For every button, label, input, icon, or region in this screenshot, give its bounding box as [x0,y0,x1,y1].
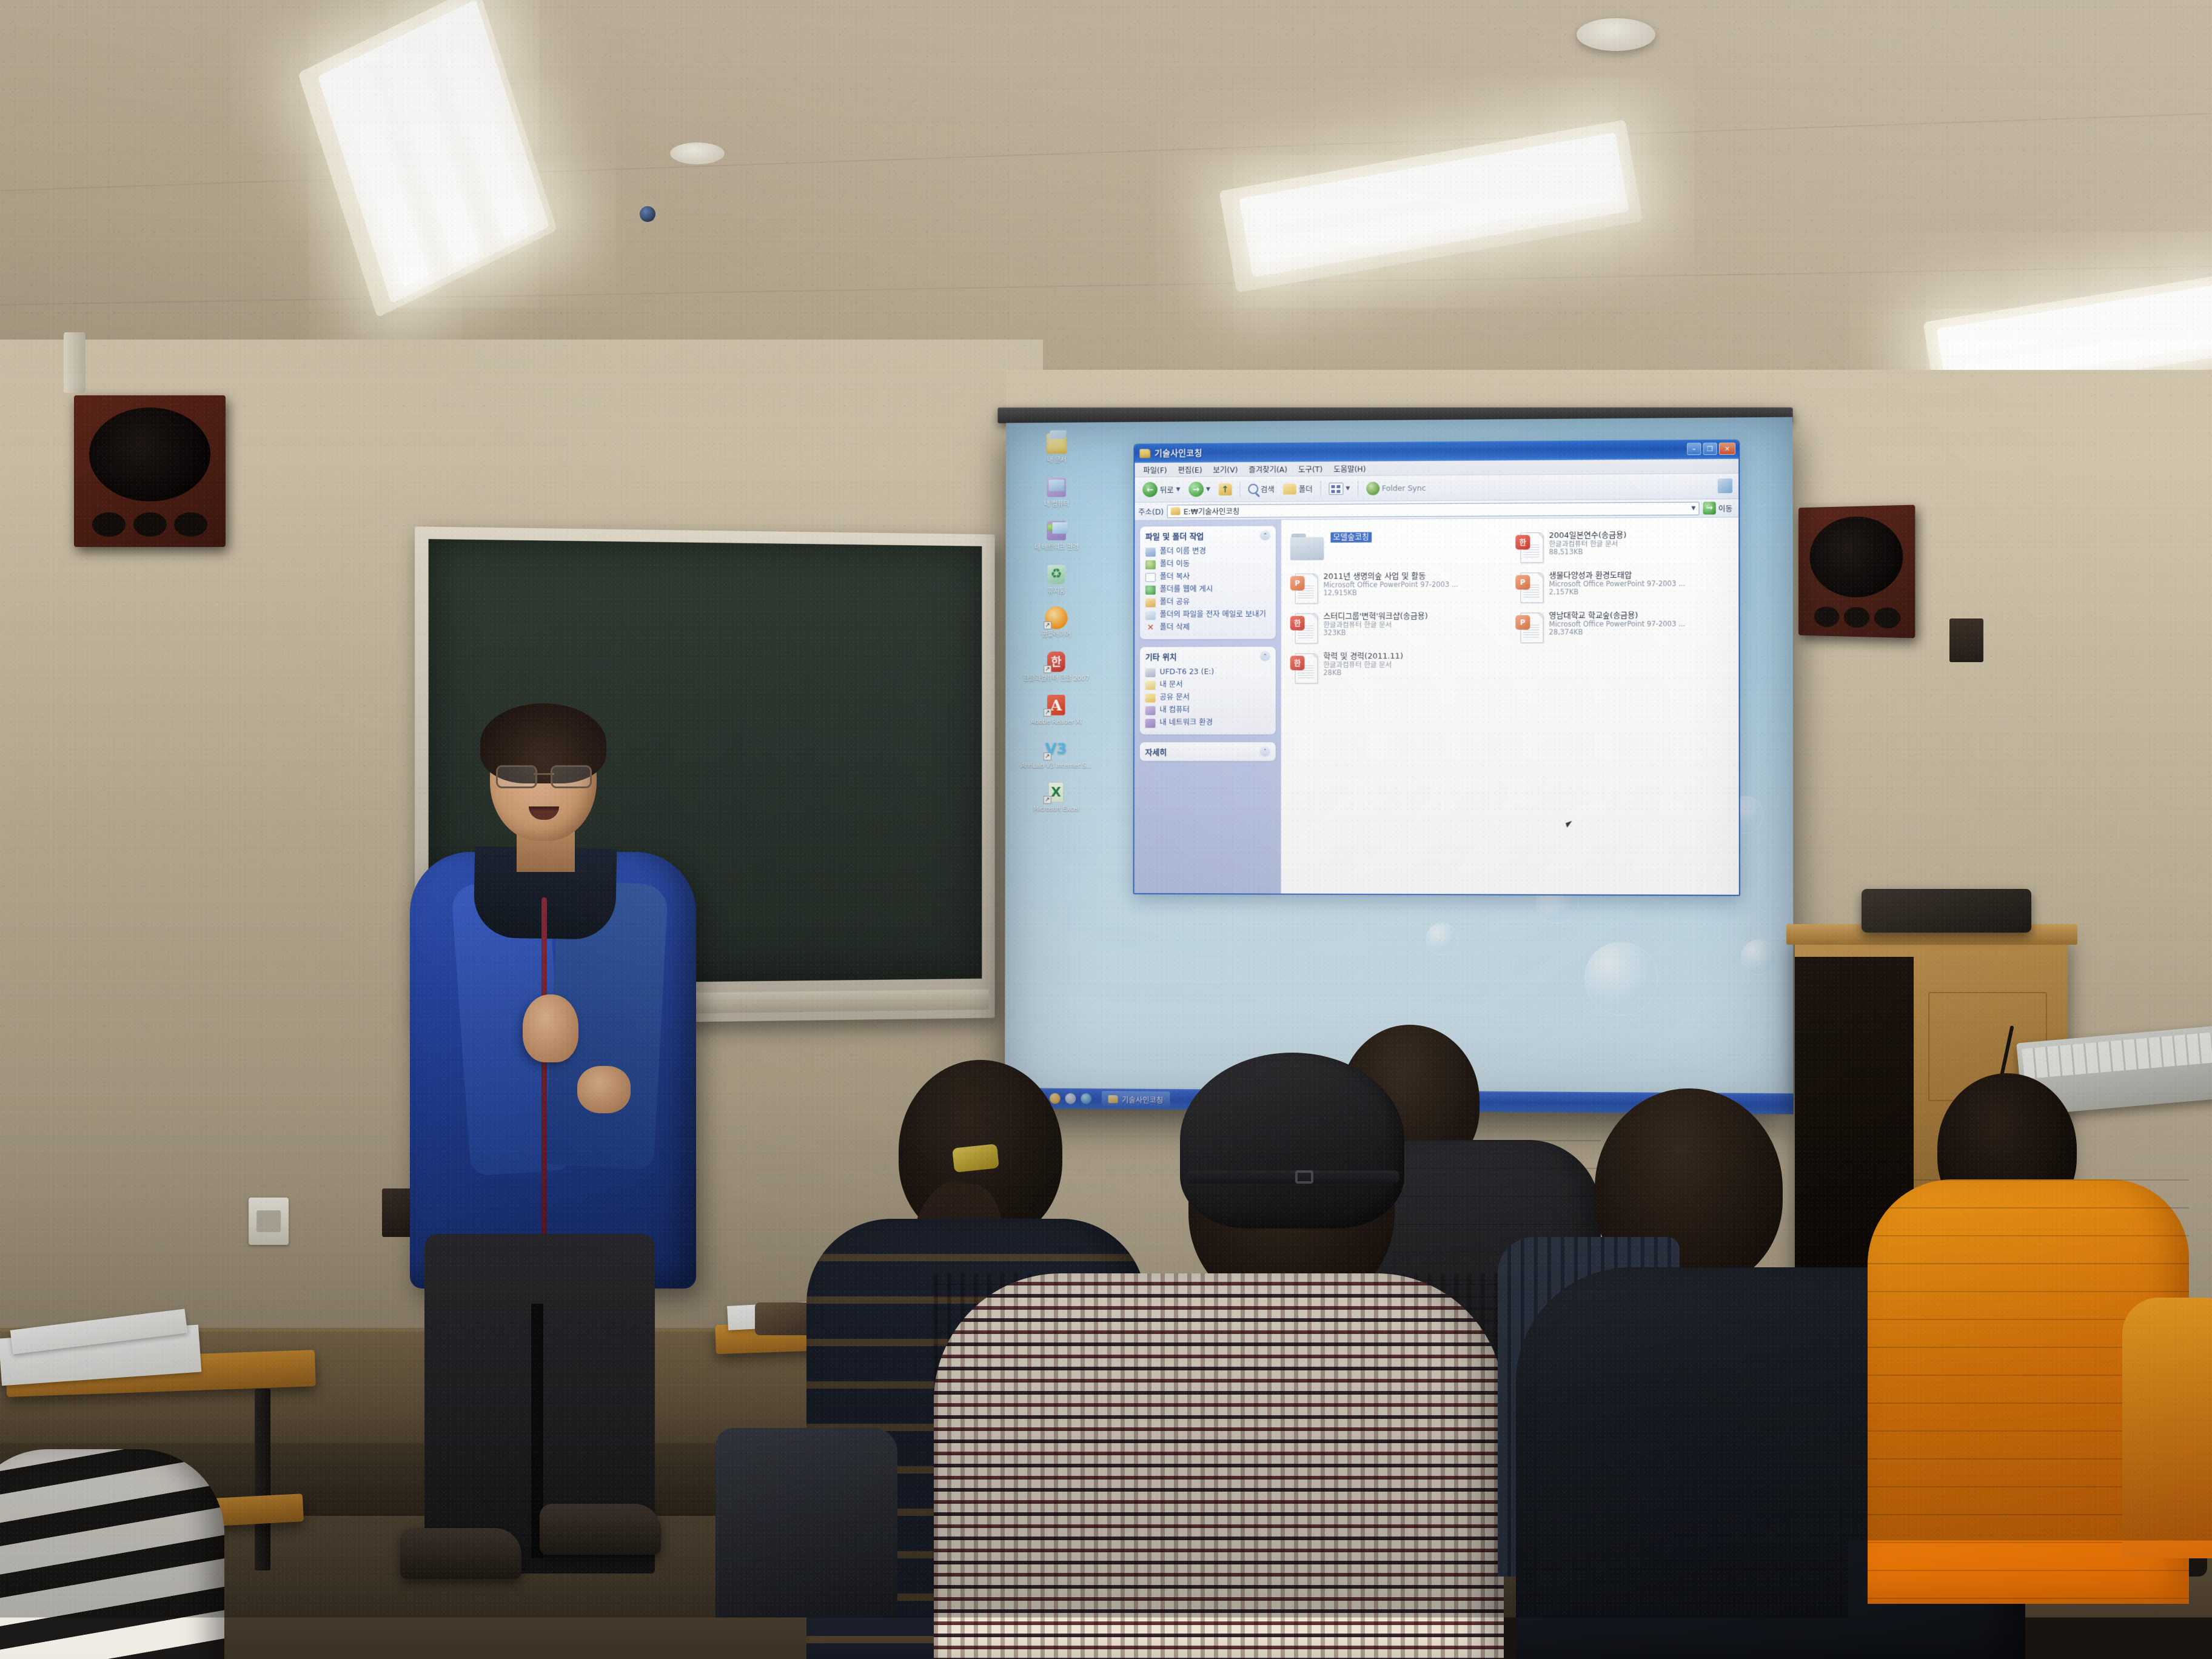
back-button[interactable]: ← 뒤로 ▼ [1139,481,1183,498]
place-label: 내 컴퓨터 [1159,705,1189,714]
task-move-folder[interactable]: 폴더 이동 [1145,557,1270,571]
desktop-icon-label: 내 컴퓨터 [1019,500,1094,508]
chevron-down-icon[interactable]: ▼ [1691,505,1695,511]
taskbar-task-label: 기술사인코칭 [1122,1093,1163,1105]
desktop-icon-my-documents[interactable]: 내 문서 [1019,432,1094,464]
file-item-hwp[interactable]: 한 학력 및 경력(2011.11) 한글과컴퓨터 한글 문서 28KB [1289,650,1504,687]
removable-drive-icon [1145,668,1156,677]
folder-sync-button[interactable]: Folder Sync [1363,480,1429,497]
toolbar-separator [1358,480,1358,496]
desktop-icon-label: 휴지통 [1019,588,1094,595]
presenter-hand-right [523,994,578,1062]
folder-icon [1290,532,1326,561]
my-network-places-icon [1145,719,1156,728]
wall-speaker-left [74,395,226,547]
file-name: 모델숲코칭 [1330,532,1372,543]
search-button[interactable]: 검색 [1245,482,1278,496]
place-label: UFD-T6 23 (E:) [1160,667,1215,675]
panel-details: 자세히 ˅ [1140,742,1276,761]
fair-isle-sweater [934,1273,1504,1659]
shared-documents-icon [1145,693,1156,702]
wall-outlet-left[interactable] [249,1198,289,1245]
desktop-icon-label: 내 네트워크 환경 [1019,544,1094,551]
chevron-up-icon[interactable]: ⌃ [1260,530,1270,540]
beanie-band [1186,1170,1399,1184]
file-size: 28KB [1323,669,1403,677]
wallpaper-bubble [1426,923,1458,954]
task-copy-folder[interactable]: 폴더 복사 [1145,570,1270,583]
panel-header[interactable]: 기타 위치 ⌃ [1140,647,1276,665]
desktop-icon-adobe-reader[interactable]: Adobe Reader XI [1019,694,1094,725]
menu-item-help[interactable]: 도움말(H) [1329,461,1370,475]
window-body: 파일 및 폴더 작업 ⌃ 폴더 이름 변경 폴더 이동 [1134,517,1739,894]
place-label: 내 네트워크 환경 [1159,718,1213,726]
go-arrow-icon: → [1703,501,1716,514]
panel-body: 폴더 이름 변경 폴더 이동 폴더 복사 [1140,543,1276,639]
rename-folder-icon [1145,548,1156,557]
address-value: E:₩기술사인코칭 [1184,505,1240,517]
back-label: 뒤로 [1160,484,1174,495]
place-removable-drive[interactable]: UFD-T6 23 (E:) [1145,666,1270,679]
panel-other-places: 기타 위치 ⌃ UFD-T6 23 (E:) 내 문서 [1140,647,1276,735]
menu-item-favorites[interactable]: 즐겨찾기(A) [1244,462,1292,476]
projector-equipment [1862,889,2031,933]
wallpaper-bubble [1584,942,1658,1015]
file-item-hwp[interactable]: 한 스터디그룹'변혁'워크샵(송금용) 한글과컴퓨터 한글 문서 323KB [1289,610,1504,647]
task-label: 폴더 복사 [1160,572,1190,580]
powerpoint-document-icon: P [1290,572,1318,605]
smoke-detector [1577,18,1655,51]
windows-explorer-window[interactable]: 기술사인코칭 – ❐ ✕ 파일(F) 편집(E) 보기(V) 즐겨찾기(A) 도… [1133,440,1740,896]
wall-speaker-right [1798,504,1915,638]
folders-label: 폴더 [1299,483,1313,494]
projected-desktop: 내 문서 내 컴퓨터 내 네트워크 환경 휴지통 곰플레이어 [1005,417,1794,1114]
task-publish-web[interactable]: 폴더를 웹에 게시 [1145,583,1270,596]
menu-item-edit[interactable]: 편집(E) [1173,463,1207,477]
forward-arrow-icon: → [1188,481,1204,497]
classroom-scene: 내 문서 내 컴퓨터 내 네트워크 환경 휴지통 곰플레이어 [0,0,2212,1659]
panel-header[interactable]: 파일 및 폴더 작업 ⌃ [1140,526,1276,544]
ceiling-sensor [670,142,725,164]
eyeglasses-icon [496,765,592,786]
views-icon [1329,483,1343,495]
panel-body: UFD-T6 23 (E:) 내 문서 공유 문서 [1140,664,1276,734]
file-item-ppt[interactable]: P 2011년 생명의숲 사업 및 활동 Microsoft Office Po… [1289,569,1504,606]
place-my-computer[interactable]: 내 컴퓨터 [1145,703,1270,716]
search-icon [1248,484,1258,494]
file-item-ppt[interactable]: P 영남대학교 학교숲(송금용) Microsoft Office PowerP… [1513,609,1731,646]
panel-title: 기타 위치 [1145,651,1177,662]
file-size: 2,157KB [1549,588,1686,596]
file-size: 88,513KB [1549,548,1627,557]
file-name: 학력 및 경력(2011.11) [1323,652,1403,661]
go-button[interactable]: → 이동 [1703,501,1735,514]
task-label: 폴더 이동 [1160,559,1190,568]
place-shared-documents[interactable]: 공유 문서 [1145,691,1270,703]
desktop-icon-my-network-places[interactable]: 내 네트워크 환경 [1019,519,1094,551]
mouse-cursor [1566,820,1578,828]
task-share-folder[interactable]: 폴더 공유 [1145,595,1270,609]
publish-web-icon [1145,585,1156,594]
toolbar: ← 뒤로 ▼ → ▼ 검색 [1134,474,1738,503]
striped-sweater [0,1449,224,1659]
quick-launch-bar [1044,1093,1098,1104]
hair-clip [952,1144,999,1173]
back-arrow-icon: ← [1142,482,1158,497]
desktop-icon-label: 곰플레이어 [1019,631,1094,638]
file-grid: 모델숲코칭 한 2004일본연수(송금용) 한글과컴퓨터 [1289,529,1732,687]
file-list-pane[interactable]: 모델숲코칭 한 2004일본연수(송금용) 한글과컴퓨터 [1281,517,1738,894]
share-folder-icon [1145,598,1156,607]
close-button[interactable]: ✕ [1719,443,1735,455]
folder-icon [1171,507,1181,515]
minimize-button[interactable]: – [1687,443,1701,455]
address-input[interactable]: E:₩기술사인코칭 ▼ [1167,501,1699,518]
hwp-document-icon: 한 [1515,531,1543,564]
chevron-down-icon[interactable]: ˅ [1260,746,1270,757]
task-pane-sidebar: 파일 및 폴더 작업 ⌃ 폴더 이름 변경 폴더 이동 [1134,520,1281,893]
address-label: 주소(D) [1138,506,1164,517]
move-folder-icon [1145,560,1156,569]
presenter-shoe-left [400,1528,521,1579]
internet-explorer-icon[interactable] [1081,1093,1091,1104]
place-label: 공유 문서 [1159,692,1189,701]
task-label: 폴더 삭제 [1160,623,1190,631]
desktop-icon-recycle-bin[interactable]: 휴지통 [1019,563,1094,595]
desktop-icon-label: 한글과컴퓨터 한글 2007 [1019,675,1094,682]
task-label: 폴더의 파일을 전자 메일로 보내기 [1160,609,1266,618]
chevron-down-icon: ▼ [1206,486,1210,492]
toolbar-branding-icon [1718,478,1732,493]
file-item-ppt[interactable]: P 생물다양성과 환경도태압 Microsoft Office PowerPoi… [1513,569,1731,606]
file-name: 스터디그룹'변혁'워크샵(송금용) [1323,612,1427,622]
ceiling-screw [640,206,655,222]
maximize-button[interactable]: ❐ [1703,443,1717,455]
chevron-down-icon: ▼ [1346,485,1350,491]
presenter-jacket-zipper [541,897,547,1237]
place-my-documents[interactable]: 내 문서 [1145,678,1270,691]
task-label: 폴더 공유 [1160,597,1190,606]
up-folder-icon [1219,483,1232,495]
backpack [716,1428,897,1634]
task-label: 폴더 이름 변경 [1160,546,1206,555]
window-titlebar[interactable]: 기술사인코칭 – ❐ ✕ [1134,440,1738,463]
folder-sync-icon [1366,481,1379,495]
desktop-icon-microsoft-excel[interactable]: Microsoft Excel [1019,781,1094,813]
place-my-network-places[interactable]: 내 네트워크 환경 [1145,716,1270,729]
panel-header[interactable]: 자세히 ˅ [1140,742,1276,761]
task-email-files[interactable]: 폴더의 파일을 전자 메일로 보내기 [1145,608,1270,622]
gom-player-icon[interactable] [1050,1093,1061,1104]
folders-button[interactable]: 폴더 [1280,481,1316,495]
file-size: 12,915KB [1323,589,1458,597]
powerpoint-document-icon: P [1515,571,1543,604]
chevron-down-icon: ▼ [1176,486,1181,492]
media-player-icon[interactable] [1065,1093,1076,1104]
my-computer-icon [1145,706,1156,715]
black-beanie [1180,1053,1404,1228]
presenter-hand-left [577,1066,631,1113]
up-button[interactable] [1216,482,1235,497]
desktop-icon-hancom-hwp[interactable]: 한글과컴퓨터 한글 2007 [1019,650,1094,682]
desktop-icon-label: 내 문서 [1019,457,1094,464]
views-button[interactable]: ▼ [1326,481,1353,495]
desktop-icon-list: 내 문서 내 컴퓨터 내 네트워크 환경 휴지통 곰플레이어 [1019,432,1094,825]
hwp-document-icon: 한 [1290,652,1318,685]
panel-title: 파일 및 폴더 작업 [1145,530,1204,541]
orange-puffer-sleeve [2122,1298,2212,1558]
panel-title: 자세히 [1145,746,1167,757]
window-controls: – ❐ ✕ [1687,443,1735,455]
search-label: 검색 [1261,483,1275,495]
folder-icon [1108,1095,1118,1103]
file-size: 28,374KB [1549,628,1686,637]
presenter-shoe-right [540,1504,661,1555]
wall-switch-plate[interactable] [1949,618,1983,662]
forward-button[interactable]: → ▼ [1185,480,1213,498]
menu-item-view[interactable]: 보기(V) [1208,462,1243,476]
folders-icon [1283,483,1296,494]
desk-leg [255,1389,270,1570]
toolbar-separator [1320,481,1321,497]
menu-item-tools[interactable]: 도구(T) [1293,461,1327,475]
delete-folder-icon [1145,623,1156,632]
file-item-hwp[interactable]: 한 2004일본연수(송금용) 한글과컴퓨터 한글 문서 88,513KB [1513,529,1731,566]
file-item-folder[interactable]: 모델숲코칭 [1289,529,1504,567]
desktop-icon-my-computer[interactable]: 내 컴퓨터 [1019,475,1094,508]
powerpoint-document-icon: P [1515,611,1543,644]
task-label: 폴더를 웹에 게시 [1160,585,1213,593]
beanie-buckle [1295,1170,1313,1184]
wall-conduit [64,332,85,393]
toolbar-separator [1239,481,1240,497]
desktop-icon-ahnlab-v3[interactable]: AhnLab V3 Internet S... [1019,737,1094,769]
go-label: 이동 [1718,502,1732,514]
projection-screen: 내 문서 내 컴퓨터 내 네트워크 환경 휴지통 곰플레이어 [1005,417,1794,1114]
menu-item-file[interactable]: 파일(F) [1138,463,1171,477]
task-delete-folder[interactable]: 폴더 삭제 [1145,621,1270,634]
place-label: 내 문서 [1159,680,1182,688]
my-documents-icon [1145,680,1156,689]
chevron-up-icon[interactable]: ⌃ [1260,651,1270,662]
wallpaper-bubble [1741,939,1777,975]
file-size: 323KB [1323,629,1427,637]
desktop-icon-label: Adobe Reader XI [1019,719,1094,726]
email-files-icon [1145,611,1156,620]
folder-icon [1139,449,1150,458]
desktop-icon-gom-player[interactable]: 곰플레이어 [1019,606,1094,638]
taskbar-task-explorer[interactable]: 기술사인코칭 [1102,1091,1170,1107]
desktop-icon-label: AhnLab V3 Internet S... [1019,762,1094,769]
task-rename-folder[interactable]: 폴더 이름 변경 [1145,545,1270,558]
window-title: 기술사인코칭 [1155,447,1202,459]
hwp-document-icon: 한 [1290,612,1318,645]
panel-file-folder-tasks: 파일 및 폴더 작업 ⌃ 폴더 이름 변경 폴더 이동 [1140,526,1276,639]
desktop-icon-label: Microsoft Excel [1019,805,1094,813]
folder-sync-label: Folder Sync [1382,483,1426,492]
copy-folder-icon [1145,572,1156,581]
